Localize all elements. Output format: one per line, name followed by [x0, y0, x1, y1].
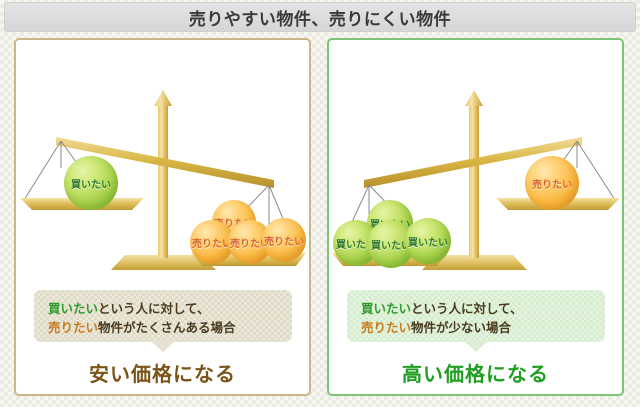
scale-post: [469, 102, 479, 258]
ball-label: 売りたい: [264, 233, 304, 248]
caption-rest-2: 物件がたくさんある場合: [98, 321, 236, 335]
caption-bubble-tail-right: [465, 342, 487, 352]
balance-scale-right: 売りたい 買いたい 買いたい 買いたい 買いたい: [329, 40, 622, 290]
caption-rest-1: という人に対して、: [411, 302, 523, 316]
caption-bubble-tail-left: [152, 342, 174, 352]
keyword-buy: 買いたい: [361, 302, 411, 316]
ball-label: 買いたい: [408, 234, 448, 249]
caption-bubble-left: 買いたいという人に対して、 売りたい物件がたくさんある場合: [34, 290, 292, 342]
header-bar: 売りやすい物件、売りにくい物件: [4, 2, 636, 32]
caption-bubble-right: 買いたいという人に対して、 売りたい物件が少ない場合: [347, 290, 605, 342]
scale-post: [158, 102, 168, 258]
panel-right-undersupply: 売りたい 買いたい 買いたい 買いたい 買いたい 買いたいという人に対して、 売…: [327, 38, 624, 396]
ball-sell: 売りたい: [525, 156, 579, 210]
caption-rest-2: 物件が少ない場合: [411, 321, 511, 335]
scale-post-tip: [154, 90, 172, 106]
conclusion-left: 安い価格になる: [16, 358, 309, 387]
keyword-buy: 買いたい: [48, 302, 98, 316]
page-title: 売りやすい物件、売りにくい物件: [189, 5, 451, 30]
ball-label: 買いたい: [71, 176, 111, 191]
diagram-canvas: 売りやすい物件、売りにくい物件: [0, 0, 640, 407]
caption-rest-1: という人に対して、: [98, 302, 210, 316]
keyword-sell: 売りたい: [48, 321, 98, 335]
caption-line-1: 買いたいという人に対して、: [361, 300, 593, 319]
panel-left-oversupply: 買いたい 売りたい 売りたい 売りたい 売りたい 買いたいという人に対して、 売…: [14, 38, 311, 396]
scale-post-tip: [465, 90, 483, 106]
ball-buy: 買いたい: [64, 156, 118, 210]
ball-label: 売りたい: [192, 235, 232, 250]
caption-line-2: 売りたい物件がたくさんある場合: [48, 319, 280, 338]
caption-line-2: 売りたい物件が少ない場合: [361, 319, 593, 338]
balance-scale-left: 買いたい 売りたい 売りたい 売りたい 売りたい: [16, 40, 309, 290]
ball-label: 売りたい: [532, 176, 572, 191]
conclusion-right: 高い価格になる: [329, 358, 622, 387]
ball-sell: 売りたい: [262, 218, 306, 262]
caption-line-1: 買いたいという人に対して、: [48, 300, 280, 319]
ball-buy: 買いたい: [405, 218, 451, 264]
keyword-sell: 売りたい: [361, 321, 411, 335]
